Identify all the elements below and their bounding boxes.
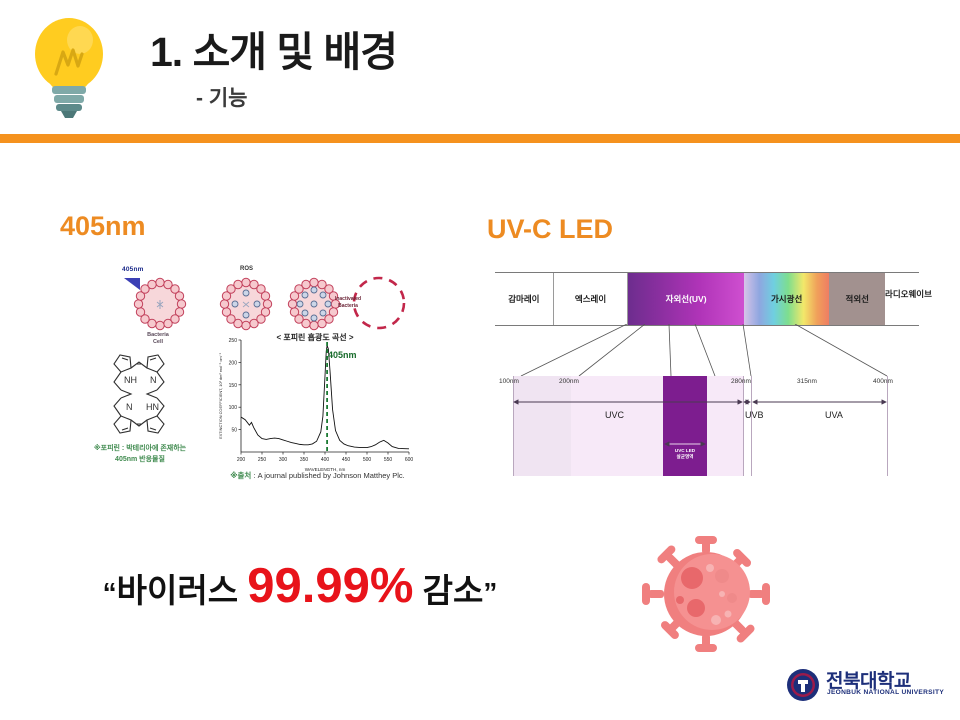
svg-text:100: 100 <box>229 405 238 411</box>
spectrum-segment-visible-light: 가시광선 <box>744 273 830 325</box>
spectrum-segment-infrared: 적외선 <box>829 273 885 325</box>
uv-band-label-uvc: UVC <box>605 410 624 420</box>
spectrum-segment-radio-wave-label: 라디오웨이브 <box>885 288 932 300</box>
spectrum-segment-ultraviolet: 자외선(UV) <box>628 273 743 325</box>
inactivated-bacteria-label: Inactivated Bacteria <box>320 296 376 309</box>
porphyrin-note: ※포피린 : 박테리아에 존재하는 405nm 반응물질 <box>60 444 220 466</box>
svg-text:550: 550 <box>384 457 393 463</box>
section-uvc-led-content: 감마레이 엑스레이 자외선(UV) 가시광선 적외선 라디오웨이브 <box>487 272 927 502</box>
wavelength-tick-315nm: 315nm <box>797 378 817 385</box>
svg-text:HN: HN <box>146 402 159 412</box>
claim-percent: 99.99% <box>247 559 413 613</box>
ros-label: ROS <box>240 266 253 272</box>
svg-text:450: 450 <box>342 457 351 463</box>
svg-text:250: 250 <box>229 338 238 344</box>
section-heading-uvc-led: UV-C LED <box>487 214 613 245</box>
section-heading-405nm: 405nm <box>60 211 146 242</box>
svg-text:150: 150 <box>229 383 238 389</box>
svg-text:200: 200 <box>237 457 246 463</box>
header-divider <box>0 134 960 143</box>
university-logo: 전북대학교 JEONBUK NATIONAL UNIVERSITY <box>786 668 946 708</box>
svg-text:50: 50 <box>231 428 237 434</box>
bacteria-cell-1 <box>132 276 188 332</box>
slide-header: 1. 소개 및 배경 - 기능 <box>0 0 960 132</box>
section-405nm-content: 405nm ROS <box>60 258 420 498</box>
svg-text:600: 600 <box>405 457 414 463</box>
svg-text:NH: NH <box>124 375 137 385</box>
svg-text:N: N <box>150 375 157 385</box>
wavelength-tick-200nm: 200nm <box>559 378 579 385</box>
svg-text:N: N <box>126 402 133 412</box>
page-title: 1. 소개 및 배경 <box>150 18 397 78</box>
wavelength-tick-row: 100nm 200nm 280nm 315nm 400nm <box>487 378 927 392</box>
chart-source-note: ※출처 : A journal published by Johnson Mat… <box>210 470 425 481</box>
uv-band-label-uva: UVA <box>825 410 843 420</box>
spectrum-connector-lines <box>495 324 919 378</box>
uv-band-label-uvb: UVB <box>745 410 764 420</box>
electromagnetic-spectrum-bar: 감마레이 엑스레이 자외선(UV) 가시광선 적외선 <box>495 272 919 326</box>
svg-text:EXTINCTION COEFFICIENT, 10³ dm: EXTINCTION COEFFICIENT, 10³ dm³ mol⁻¹ cm… <box>218 352 223 439</box>
svg-text:500: 500 <box>363 457 372 463</box>
wavelength-tick-400nm: 400nm <box>873 378 893 385</box>
virus-icon <box>636 534 776 654</box>
chart-peak-label: 405nm <box>328 350 357 360</box>
spectrum-segment-gamma-ray: 감마레이 <box>495 273 554 325</box>
uvc-led-band-label: UVC LED 살균영역 <box>663 448 707 460</box>
svg-text:300: 300 <box>279 457 288 463</box>
lightbulb-icon <box>24 12 114 120</box>
svg-text:200: 200 <box>229 360 238 366</box>
bacteria-cell-2 <box>218 276 274 332</box>
svg-text:400: 400 <box>321 457 330 463</box>
slide: 1. 소개 및 배경 - 기능 405nm 405nm ROS <box>0 0 960 720</box>
spectrum-segment-x-ray: 엑스레이 <box>554 273 629 325</box>
absorption-chart: 5010015020025020025030035040045050055060… <box>215 334 415 474</box>
university-name-en: JEONBUK NATIONAL UNIVERSITY <box>827 689 944 696</box>
university-emblem-icon <box>786 668 820 702</box>
claim-close-quote: ” <box>483 577 497 608</box>
wavelength-tick-280nm: 280nm <box>731 378 751 385</box>
claim-prefix: 바이러스 <box>117 572 248 609</box>
wavelength-tick-100nm: 100nm <box>499 378 519 385</box>
claim-open-quote: “ <box>103 577 117 608</box>
claim-suffix: 감소 <box>413 572 483 609</box>
diagram-405nm-label: 405nm <box>122 266 144 273</box>
svg-text:250: 250 <box>258 457 267 463</box>
svg-text:350: 350 <box>300 457 309 463</box>
page-subtitle: - 기능 <box>196 82 247 112</box>
claim-statement: “바이러스 99.99% 감소” <box>0 558 600 614</box>
porphyrin-molecule-diagram: NH N N HN <box>64 338 214 458</box>
bacteria-inactivation-diagram: 405nm ROS <box>90 266 410 336</box>
